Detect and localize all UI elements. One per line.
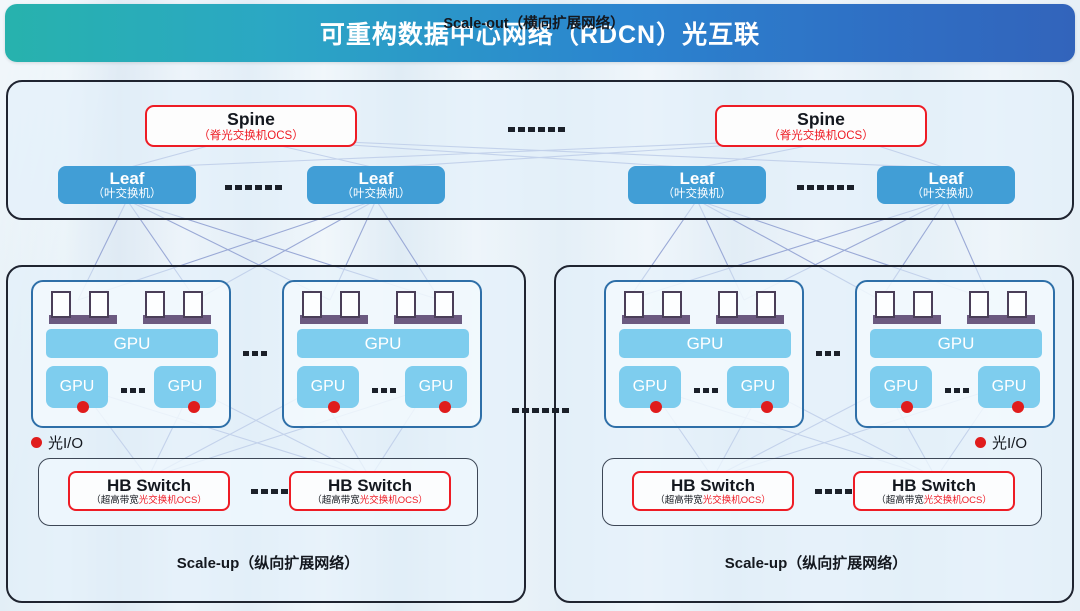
hb-switch-right-2[interactable]: HB Switch （超高带宽光交换机OCS） (853, 471, 1015, 511)
gpu-inner-ellipsis (372, 385, 396, 395)
optical-io-dot (439, 401, 451, 413)
spine-sublabel: （脊光交换机OCS） (198, 130, 303, 142)
leaf-sublabel: （叶交换机） (93, 189, 162, 201)
hb-switch-sublabel: （超高带宽光交换机OCS） (876, 496, 992, 506)
hb-switch-left-2[interactable]: HB Switch （超高带宽光交换机OCS） (289, 471, 451, 511)
gpu-inner-ellipsis (945, 385, 969, 395)
hb-sub-red: 光交换机OCS） (703, 495, 771, 506)
hb-switch-group-left: HB Switch （超高带宽光交换机OCS） HB Switch （超高带宽光… (38, 458, 478, 526)
optical-module-pair (47, 290, 119, 324)
module-chip (756, 291, 776, 318)
gpu-unit-right: GPU (154, 366, 216, 408)
hb-sub-red: 光交换机OCS） (360, 495, 428, 506)
module-chip (51, 291, 71, 318)
optical-io-dot (328, 401, 340, 413)
leaf-sublabel: （叶交换机） (912, 189, 981, 201)
hb-sub-black: （超高带宽 (655, 495, 703, 506)
optical-module-pair (714, 290, 786, 324)
optical-io-legend-left: 光I/O (31, 432, 83, 453)
leaf-switch-2[interactable]: Leaf （叶交换机） (307, 166, 445, 204)
optical-io-dot (901, 401, 913, 413)
leaf-label: Leaf (359, 170, 394, 187)
leaf-ellipsis-right (797, 182, 854, 192)
hb-sub-red: 光交换机OCS） (139, 495, 207, 506)
hb-switch-sublabel: （超高带宽光交换机OCS） (91, 496, 207, 506)
module-chip (183, 291, 203, 318)
optical-io-dot-icon (31, 437, 42, 448)
hb-sub-black: （超高带宽 (312, 495, 360, 506)
module-chip (340, 291, 360, 318)
module-chip (875, 291, 895, 318)
leaf-label: Leaf (929, 170, 964, 187)
hb-switch-label: HB Switch (671, 477, 755, 494)
node-ellipsis-right (816, 348, 840, 358)
module-chip (1007, 291, 1027, 318)
gpu-unit-left: GPU (46, 366, 108, 408)
optical-io-dot-icon (975, 437, 986, 448)
module-chip (89, 291, 109, 318)
optical-io-dot (188, 401, 200, 413)
gpu-bar: GPU (619, 329, 791, 358)
hb-switch-label: HB Switch (328, 477, 412, 494)
module-chip (662, 291, 682, 318)
gpu-inner-ellipsis (121, 385, 145, 395)
leaf-switch-4[interactable]: Leaf （叶交换机） (877, 166, 1015, 204)
optical-module-pair (298, 290, 370, 324)
leaf-sublabel: （叶交换机） (663, 189, 732, 201)
gpu-bar: GPU (297, 329, 469, 358)
optical-io-dot (761, 401, 773, 413)
gpu-node-right-2[interactable]: GPU GPU GPU (855, 280, 1055, 428)
hb-switch-label: HB Switch (107, 477, 191, 494)
leaf-switch-1[interactable]: Leaf （叶交换机） (58, 166, 196, 204)
leaf-label: Leaf (680, 170, 715, 187)
gpu-unit-left: GPU (297, 366, 359, 408)
hb-sub-black: （超高带宽 (91, 495, 139, 506)
optical-modules-group (871, 290, 1037, 324)
cluster-ellipsis-middle (512, 405, 569, 415)
module-chip (434, 291, 454, 318)
hb-switch-left-1[interactable]: HB Switch （超高带宽光交换机OCS） (68, 471, 230, 511)
gpu-bar: GPU (870, 329, 1042, 358)
optical-module-pair (965, 290, 1037, 324)
module-chip (969, 291, 989, 318)
gpu-node-left-2[interactable]: GPU GPU GPU (282, 280, 482, 428)
hb-switch-label: HB Switch (892, 477, 976, 494)
gpu-unit-right: GPU (727, 366, 789, 408)
gpu-bar: GPU (46, 329, 218, 358)
optical-io-dot (1012, 401, 1024, 413)
gpu-node-left-1[interactable]: GPU GPU GPU (31, 280, 231, 428)
spine-sublabel: （脊光交换机OCS） (768, 130, 873, 142)
leaf-switch-3[interactable]: Leaf （叶交换机） (628, 166, 766, 204)
diagram-root: 可重构数据中心网络（RDCN）光互联 Scale-out（横向扩展网络） Spi… (0, 0, 1080, 611)
optical-modules-group (298, 290, 464, 324)
gpu-unit-right: GPU (978, 366, 1040, 408)
leaf-sublabel: （叶交换机） (342, 189, 411, 201)
module-chip (624, 291, 644, 318)
hb-switch-right-1[interactable]: HB Switch （超高带宽光交换机OCS） (632, 471, 794, 511)
leaf-ellipsis-left (225, 182, 282, 192)
scale-up-title-left: Scale-up（纵向扩展网络） (8, 552, 528, 573)
gpu-node-right-1[interactable]: GPU GPU GPU (604, 280, 804, 428)
gpu-inner-ellipsis (694, 385, 718, 395)
module-chip (302, 291, 322, 318)
spine-switch-1[interactable]: Spine （脊光交换机OCS） (145, 105, 357, 147)
optical-io-legend-label: 光I/O (48, 432, 83, 453)
spine-label: Spine (797, 110, 845, 128)
module-chip (913, 291, 933, 318)
hb-sub-black: （超高带宽 (876, 495, 924, 506)
optical-modules-group (620, 290, 786, 324)
optical-module-pair (620, 290, 692, 324)
scale-out-title: Scale-out（横向扩展网络） (0, 12, 1068, 33)
optical-io-legend-label: 光I/O (992, 432, 1027, 453)
optical-modules-group (47, 290, 213, 324)
gpu-unit-left: GPU (619, 366, 681, 408)
optical-module-pair (392, 290, 464, 324)
gpu-unit-left: GPU (870, 366, 932, 408)
hb-switch-sublabel: （超高带宽光交换机OCS） (655, 496, 771, 506)
leaf-label: Leaf (110, 170, 145, 187)
module-chip (145, 291, 165, 318)
scale-up-title-right: Scale-up（纵向扩展网络） (556, 552, 1076, 573)
gpu-unit-right: GPU (405, 366, 467, 408)
hb-switch-group-right: HB Switch （超高带宽光交换机OCS） HB Switch （超高带宽光… (602, 458, 1042, 526)
module-chip (396, 291, 416, 318)
optical-module-pair (141, 290, 213, 324)
optical-module-pair (871, 290, 943, 324)
optical-io-dot (650, 401, 662, 413)
optical-io-dot (77, 401, 89, 413)
hb-switch-sublabel: （超高带宽光交换机OCS） (312, 496, 428, 506)
module-chip (718, 291, 738, 318)
node-ellipsis-left (243, 348, 267, 358)
spine-label: Spine (227, 110, 275, 128)
spine-ellipsis (508, 124, 565, 134)
hb-sub-red: 光交换机OCS） (924, 495, 992, 506)
spine-switch-2[interactable]: Spine （脊光交换机OCS） (715, 105, 927, 147)
optical-io-legend-right: 光I/O (975, 432, 1027, 453)
